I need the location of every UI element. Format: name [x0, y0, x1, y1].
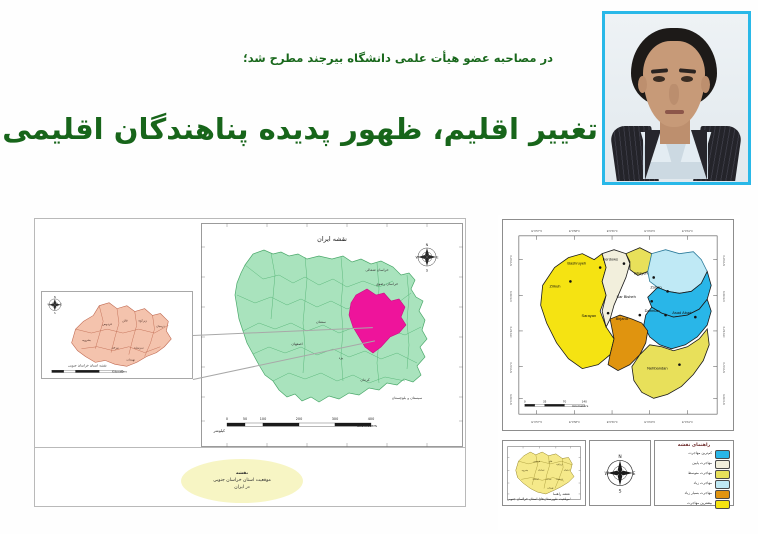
svg-text:Sar Bisheh: Sar Bisheh: [616, 294, 635, 299]
legend-item-label: کم‌ترین مهاجرت: [688, 452, 712, 456]
legend-item-label: بیشترین مهاجرت: [687, 502, 712, 506]
svg-text:سمنان: سمنان: [316, 320, 326, 324]
svg-text:200: 200: [296, 417, 302, 421]
svg-text:300: 300: [332, 417, 338, 421]
legend-item-label: مهاجرت بسیار زیاد: [685, 492, 712, 496]
svg-text:32°0'0"N: 32°0'0"N: [722, 326, 726, 337]
svg-text:N: N: [426, 243, 429, 247]
svg-text:59°0'0"E: 59°0'0"E: [607, 420, 618, 424]
svg-text:33°0'0"N: 33°0'0"N: [722, 290, 726, 301]
province-inset-svg: بشرویه فردوس قائن زیرکوه درمیان بیرجند س…: [42, 292, 192, 378]
svg-text:57°0'0"E: 57°0'0"E: [531, 229, 542, 233]
svg-text:33°0'0"N: 33°0'0"N: [509, 290, 513, 301]
locator-province-shape: [516, 452, 574, 494]
iran-overview-map: نقشه ایران خراسان رضوی خراسان: [201, 223, 463, 447]
svg-text:زیرکوه: زیرکوه: [556, 463, 562, 466]
svg-text:سرایان: سرایان: [538, 468, 545, 471]
svg-text:61°0'0"E: 61°0'0"E: [682, 229, 693, 233]
svg-text:فردوس: فردوس: [102, 322, 112, 326]
choropleth-svg: Zirkuh Bashruyeh Ferdows Ghayen Zohan Sa…: [503, 220, 733, 430]
kicker-text: در مصاحبه عضو هیأت علمی دانشگاه بیرجند م…: [203, 52, 553, 66]
svg-text:E: E: [436, 255, 439, 259]
inset-compass-rose-icon: N S E W: [48, 295, 63, 315]
svg-text:Ferdows: Ferdows: [603, 257, 618, 262]
right-map-figure: Zirkuh Bashruyeh Ferdows Ghayen Zohan Sa…: [498, 215, 740, 530]
svg-text:Asad Abad: Asad Abad: [672, 310, 691, 315]
eye-right-shape: [681, 76, 693, 82]
svg-text:درمیان: درمیان: [564, 468, 570, 471]
svg-text:0: 0: [226, 417, 228, 421]
svg-text:N: N: [54, 295, 56, 299]
legend-swatch-icon: [715, 480, 730, 489]
header: در مصاحبه عضو هیأت علمی دانشگاه بیرجند م…: [0, 0, 758, 200]
locator-caption: نقشه راهنما موقعیت شهرستان‌های استان خرا…: [507, 492, 570, 501]
caption-line-2: موقعیت استان خراسان جنوبی: [213, 478, 271, 484]
svg-text:E: E: [633, 471, 636, 477]
svg-text:70: 70: [563, 399, 567, 403]
svg-text:S: S: [54, 311, 56, 315]
svg-text:0: 0: [524, 399, 526, 403]
svg-text:یزد: یزد: [339, 356, 344, 360]
svg-text:E: E: [61, 303, 63, 307]
legend-item: بیشترین مهاجرت: [658, 500, 730, 509]
svg-text:Zohan: Zohan: [650, 284, 661, 289]
svg-text:58°0'0"E: 58°0'0"E: [569, 229, 580, 233]
svg-text:30°0'0"N: 30°0'0"N: [509, 393, 513, 404]
legend-swatch-icon: [715, 500, 730, 509]
svg-text:34°0'0"N: 34°0'0"N: [509, 255, 513, 266]
svg-text:35: 35: [543, 399, 547, 403]
svg-text:نهبندان: نهبندان: [547, 486, 554, 489]
svg-text:Darmian: Darmian: [645, 308, 660, 313]
svg-text:بیرجند: بیرجند: [546, 477, 552, 480]
south-khorasan-choropleth: Zirkuh Bashruyeh Ferdows Ghayen Zohan Sa…: [502, 219, 734, 431]
province-inset-shape: [72, 303, 172, 367]
legend-title: راهنمای نقشه: [658, 443, 730, 448]
svg-text:Ghayen: Ghayen: [634, 270, 648, 275]
svg-text:400: 400: [368, 417, 374, 421]
compass-panel: N S E W: [589, 440, 651, 506]
legend-item: مهاجرت بسیار زیاد: [658, 490, 730, 499]
caption-line-1: نقشه: [236, 471, 248, 477]
locator-caption-line-2: موقعیت شهرستان‌های استان خراسان جنوبی: [507, 497, 570, 501]
svg-text:Birjand: Birjand: [616, 316, 628, 321]
ear-right-shape: [701, 76, 710, 93]
svg-text:Bashruyeh: Bashruyeh: [567, 261, 586, 266]
nose-shape: [669, 84, 679, 105]
svg-text:خراسان شمالی: خراسان شمالی: [365, 268, 388, 272]
svg-text:60°0'0"E: 60°0'0"E: [644, 420, 655, 424]
legend-swatch-icon: [715, 470, 730, 479]
svg-text:34°0'0"N: 34°0'0"N: [722, 255, 726, 266]
svg-text:58°0'0"E: 58°0'0"E: [569, 420, 580, 424]
compass-rose-icon: N S E W: [416, 243, 440, 273]
ear-left-shape: [638, 76, 647, 93]
svg-text:سربیشه: سربیشه: [556, 477, 564, 480]
lapel-left-shape: [645, 130, 661, 180]
page-title: تغییر اقلیم، ظهور پدیده پناهندگان اقلیمی: [168, 111, 598, 147]
svg-text:W: W: [416, 255, 420, 259]
svg-text:100: 100: [260, 417, 266, 421]
legend-item-label: مهاجرت متوسط: [688, 472, 712, 476]
legend-item: مهاجرت پایین: [658, 460, 730, 469]
svg-text:بشرویه: بشرویه: [82, 338, 91, 342]
svg-text:61°0'0"E: 61°0'0"E: [682, 420, 693, 424]
svg-text:سربیشه: سربیشه: [134, 346, 145, 350]
iran-map-svg: نقشه ایران خراسان رضوی خراسان: [201, 223, 463, 447]
svg-text:60°0'0"E: 60°0'0"E: [644, 229, 655, 233]
svg-text:Kilometers: Kilometers: [572, 404, 588, 408]
legend-swatch-icon: [715, 460, 730, 469]
svg-text:زیرکوه: زیرکوه: [138, 318, 147, 322]
svg-text:Sarayan: Sarayan: [581, 313, 596, 318]
compass-rose-large-icon: N S E W: [590, 441, 650, 505]
panel-divider: [35, 447, 465, 448]
svg-text:خوسف: خوسف: [533, 477, 540, 480]
portrait-background: [605, 14, 748, 182]
locator-inset-panel: بشرویه فردوس سرایان قائن زیرکوه درمیان ب…: [502, 440, 586, 506]
map-legend: راهنمای نقشه کم‌ترین مهاجرت مهاجرت پایین…: [654, 440, 734, 506]
svg-text:30°0'0"N: 30°0'0"N: [722, 393, 726, 404]
svg-text:بشرویه: بشرویه: [522, 469, 529, 472]
province-inset-title: نقشه استان خراسان جنوبی: [68, 363, 107, 367]
mouth-shape: [665, 110, 684, 114]
svg-text:سیستان و بلوچستان: سیستان و بلوچستان: [392, 396, 422, 400]
svg-text:Nehbandan: Nehbandan: [647, 366, 667, 371]
legend-item-label: مهاجرت پایین: [692, 462, 712, 466]
svg-text:Kilometers: Kilometers: [357, 423, 377, 428]
svg-text:اصفهان: اصفهان: [291, 342, 302, 346]
province-inset-map: بشرویه فردوس قائن زیرکوه درمیان بیرجند س…: [41, 291, 193, 379]
svg-text:خراسان رضوی: خراسان رضوی: [376, 282, 399, 286]
portrait-photo: [602, 11, 751, 185]
legend-item-label: مهاجرت زیاد: [694, 482, 712, 486]
caption-line-3: در ایران: [234, 485, 249, 491]
legend-item: مهاجرت زیاد: [658, 480, 730, 489]
eye-left-shape: [653, 76, 665, 82]
svg-text:59°0'0"E: 59°0'0"E: [607, 229, 618, 233]
legend-swatch-icon: [715, 450, 730, 459]
svg-text:درمیان: درمیان: [156, 324, 165, 328]
svg-text:Kilometers: Kilometers: [112, 370, 127, 374]
svg-text:S: S: [426, 269, 429, 273]
lapel-right-shape: [691, 130, 707, 180]
svg-text:31°0'0"N: 31°0'0"N: [722, 362, 726, 373]
svg-text:قائن: قائن: [548, 460, 552, 463]
svg-text:W: W: [605, 471, 610, 477]
svg-text:بیرجند: بیرجند: [111, 346, 119, 350]
svg-text:32°0'0"N: 32°0'0"N: [509, 326, 513, 337]
svg-text:31°0'0"N: 31°0'0"N: [509, 362, 513, 373]
legend-swatch-icon: [715, 490, 730, 499]
svg-text:50: 50: [243, 417, 247, 421]
left-map-figure: نقشه ایران خراسان رضوی خراسان: [34, 218, 466, 507]
figure-caption: نقشه موقعیت استان خراسان جنوبی در ایران: [181, 459, 303, 503]
iran-map-title: نقشه ایران: [317, 235, 347, 243]
inset-scale-bar: Kilometers: [52, 370, 128, 374]
svg-text:140: 140: [582, 399, 588, 403]
legend-item: مهاجرت متوسط: [658, 470, 730, 479]
map-accessories-row: راهنمای نقشه کم‌ترین مهاجرت مهاجرت پایین…: [502, 440, 734, 506]
svg-text:Zirkuh: Zirkuh: [550, 283, 561, 288]
svg-text:قائن: قائن: [122, 318, 128, 322]
legend-item: کم‌ترین مهاجرت: [658, 450, 730, 459]
svg-text:کرمان: کرمان: [360, 378, 370, 382]
svg-text:کیلومتر: کیلومتر: [213, 428, 226, 433]
svg-text:نهبندان: نهبندان: [127, 357, 136, 361]
iran-scale-bar: 0 50 100 200 300 400 Kilometers کیلومتر: [213, 417, 377, 433]
svg-text:57°0'0"E: 57°0'0"E: [531, 420, 542, 424]
svg-text:N: N: [618, 454, 621, 460]
svg-text:S: S: [619, 488, 622, 494]
choropleth-scale-bar: 0 35 70 140 Kilometers: [524, 399, 589, 408]
svg-text:فردوس: فردوس: [533, 460, 540, 463]
